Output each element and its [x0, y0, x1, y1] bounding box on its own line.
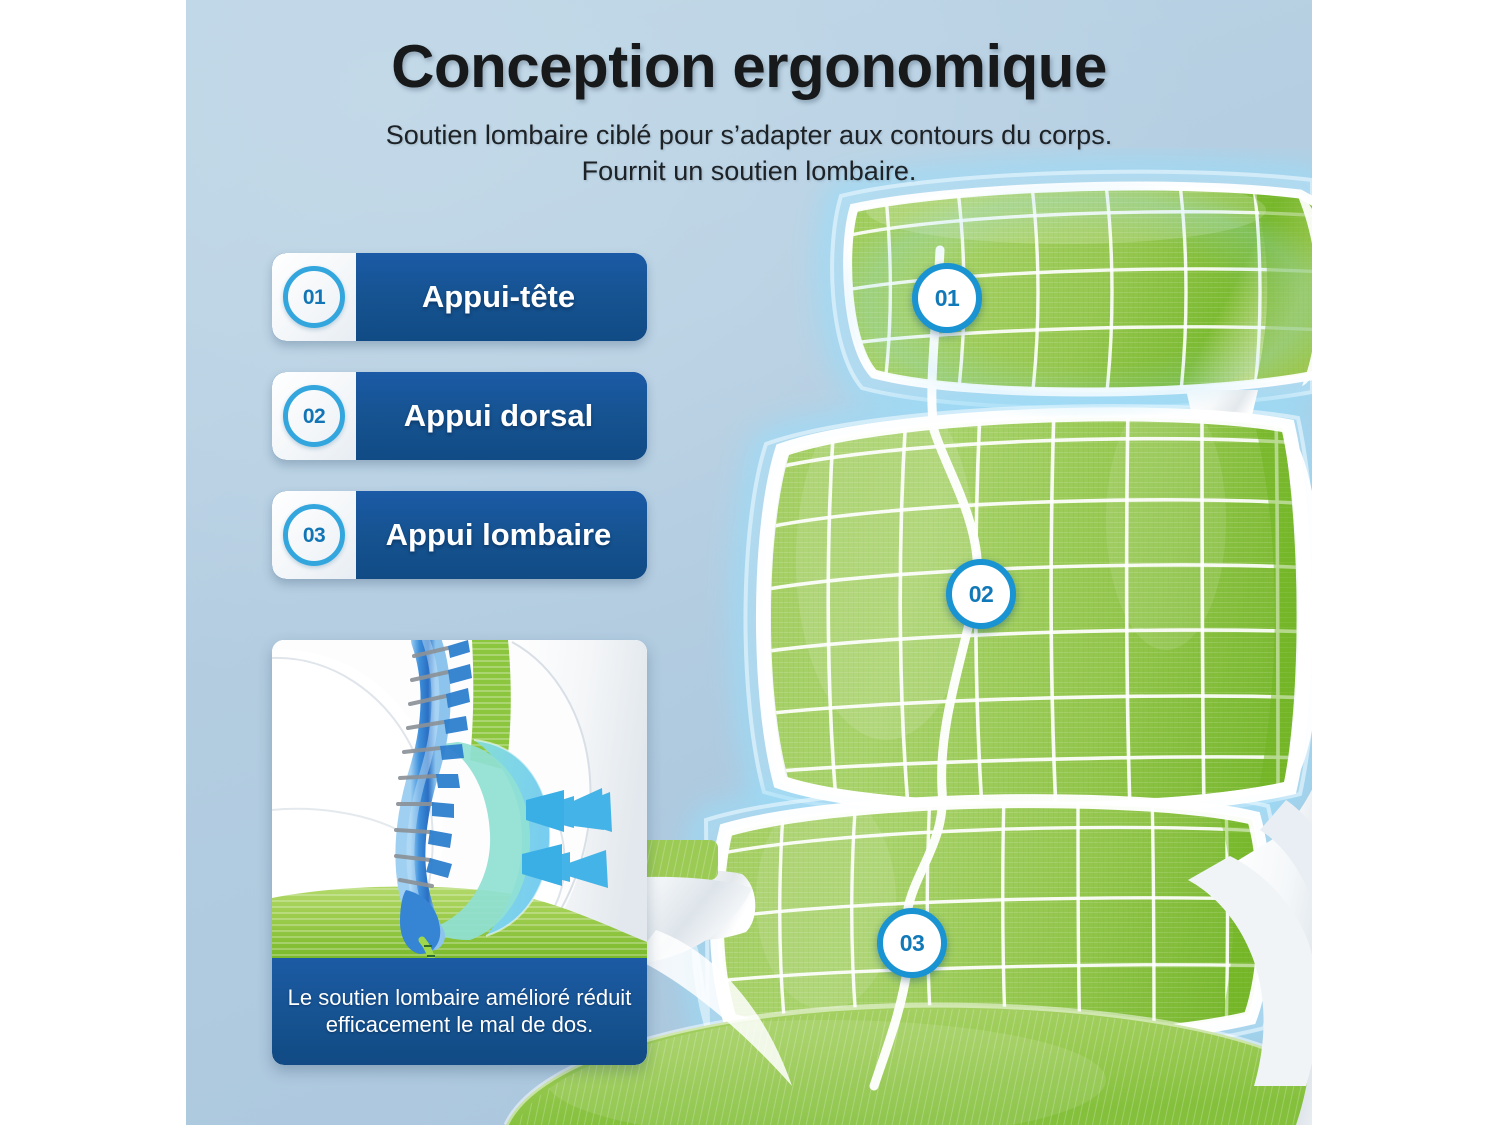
feature-badge-03: 03	[272, 491, 356, 579]
chair-marker-number-02: 02	[969, 581, 994, 608]
feature-label-03: Appui lombaire	[386, 517, 618, 553]
chair-marker-number-01: 01	[935, 285, 960, 312]
chair-marker-number-03: 03	[900, 930, 925, 957]
feature-label-01: Appui-tête	[422, 279, 581, 315]
feature-number-02: 02	[303, 406, 325, 427]
subtitle-line-2: Fournit un soutien lombaire.	[186, 154, 1312, 190]
feature-body-03: Appui lombaire	[356, 491, 647, 579]
feature-label-02: Appui dorsal	[404, 398, 599, 434]
feature-body-01: Appui-tête	[356, 253, 647, 341]
chair-marker-01[interactable]: 01	[912, 263, 982, 333]
chair-backrest	[746, 380, 1312, 840]
feature-badge-02: 02	[272, 372, 356, 460]
screenshot-stage: Conception ergonomique Soutien lombaire …	[0, 0, 1500, 1125]
infographic-canvas: Conception ergonomique Soutien lombaire …	[186, 0, 1312, 1125]
lumbar-detail-caption: Le soutien lombaire amélioré réduit effi…	[272, 958, 647, 1065]
feature-badge-01: 01	[272, 253, 356, 341]
number-ring-icon: 02	[283, 385, 345, 447]
feature-item-01[interactable]: 01 Appui-tête	[272, 253, 647, 341]
chair-marker-02[interactable]: 02	[946, 559, 1016, 629]
subtitle-line-1: Soutien lombaire ciblé pour s’adapter au…	[186, 118, 1312, 154]
chair-marker-03[interactable]: 03	[877, 908, 947, 978]
lumbar-detail-panel: Le soutien lombaire amélioré réduit effi…	[272, 640, 647, 1065]
feature-number-01: 01	[303, 287, 325, 308]
number-ring-icon: 03	[283, 504, 345, 566]
page-subtitle: Soutien lombaire ciblé pour s’adapter au…	[186, 118, 1312, 190]
feature-item-02[interactable]: 02 Appui dorsal	[272, 372, 647, 460]
number-ring-icon: 01	[283, 266, 345, 328]
feature-item-03[interactable]: 03 Appui lombaire	[272, 491, 647, 579]
feature-body-02: Appui dorsal	[356, 372, 647, 460]
feature-number-03: 03	[303, 525, 325, 546]
spine-illustration	[272, 640, 647, 958]
feature-list: 01 Appui-tête 02 Appui dorsal	[272, 253, 647, 610]
page-title: Conception ergonomique	[186, 32, 1312, 101]
caption-text: Le soutien lombaire amélioré réduit effi…	[272, 985, 647, 1039]
